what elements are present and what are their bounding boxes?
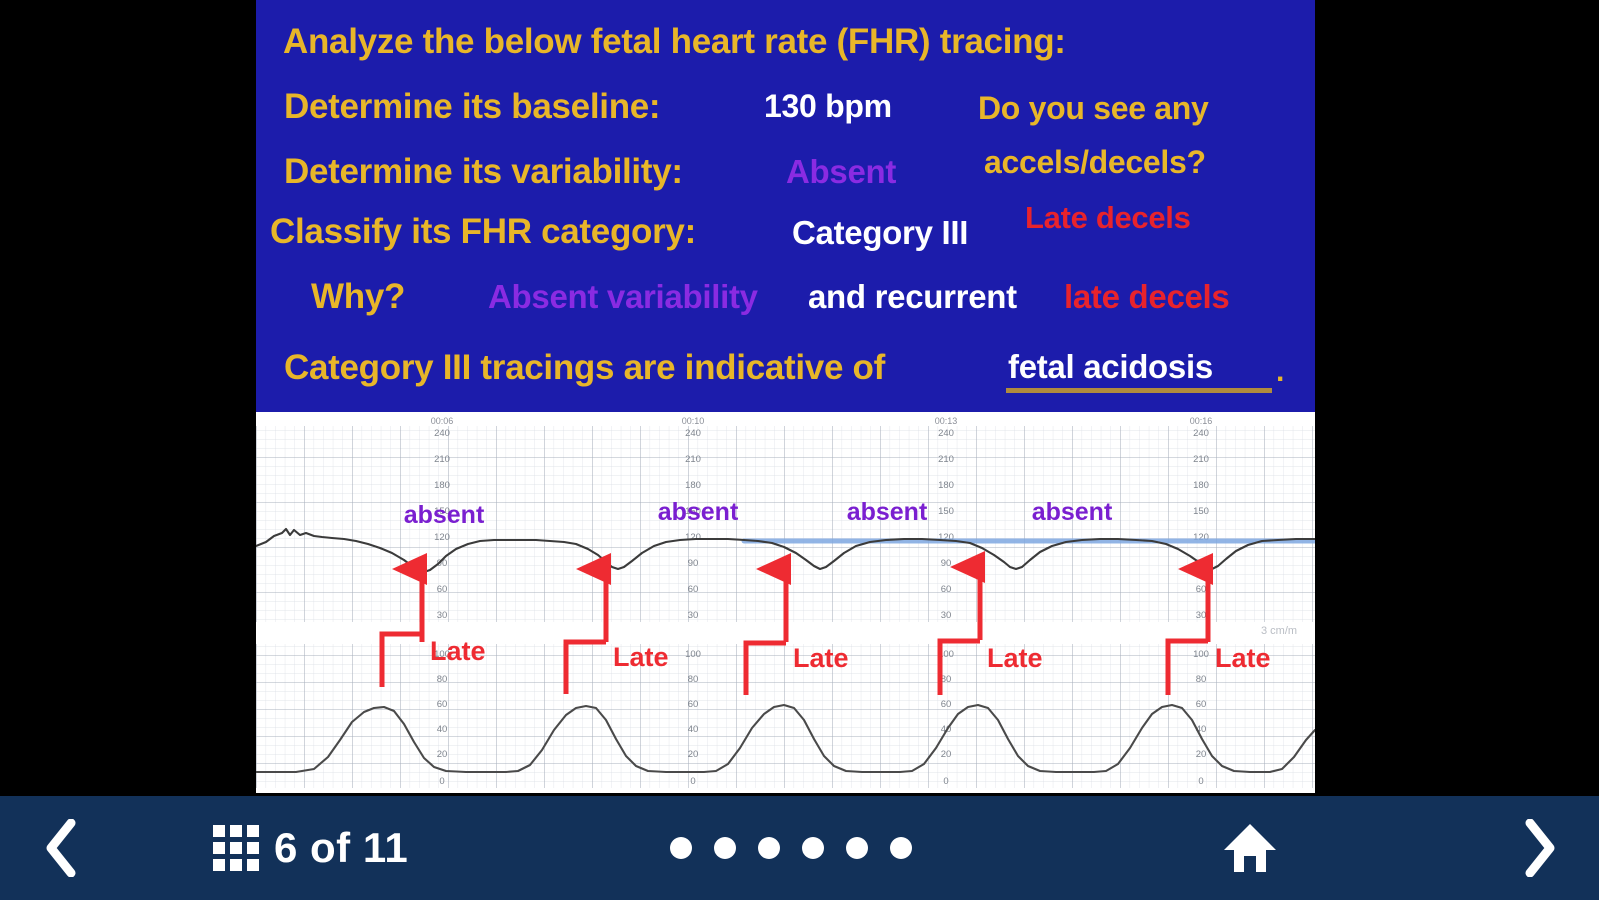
grid-cell <box>230 842 242 854</box>
svg-text:20: 20 <box>1196 749 1207 760</box>
tracing-svg: 00:06 00:10 00:13 00:16 240 210 180 150 … <box>256 412 1315 793</box>
slide-grid-button[interactable] <box>213 825 259 871</box>
svg-text:30: 30 <box>437 610 448 621</box>
toco-grid <box>256 644 1315 788</box>
page-indicator: 6 of 11 <box>274 824 408 872</box>
svg-text:60: 60 <box>688 584 699 595</box>
svg-text:80: 80 <box>688 674 699 685</box>
svg-text:180: 180 <box>1193 480 1209 491</box>
slide-viewer-app: Analyze the below fetal heart rate (FHR)… <box>0 0 1599 900</box>
svg-text:0: 0 <box>439 776 444 787</box>
slide-dots[interactable] <box>670 837 912 859</box>
slide-dot[interactable] <box>802 837 824 859</box>
indicative-blank-answer: fetal acidosis <box>1008 348 1213 386</box>
svg-text:60: 60 <box>941 584 952 595</box>
svg-text:60: 60 <box>1196 584 1207 595</box>
svg-text:60: 60 <box>688 699 699 710</box>
svg-text:150: 150 <box>938 506 954 517</box>
category-label: Classify its FHR category: <box>270 212 696 252</box>
time-label: 00:10 <box>682 416 705 426</box>
svg-text:30: 30 <box>941 610 952 621</box>
svg-text:90: 90 <box>941 558 952 569</box>
svg-text:30: 30 <box>1196 610 1207 621</box>
svg-text:100: 100 <box>685 649 701 660</box>
svg-text:0: 0 <box>690 776 695 787</box>
grid-cell <box>247 842 259 854</box>
variability-value: Absent <box>786 153 896 191</box>
grid-cell <box>230 859 242 871</box>
grid-cell <box>247 825 259 837</box>
svg-text:240: 240 <box>685 428 701 439</box>
home-icon <box>1222 822 1278 874</box>
next-slide-button[interactable] <box>1511 818 1571 878</box>
grid-cell <box>247 859 259 871</box>
late-label: Late <box>613 642 669 672</box>
svg-text:80: 80 <box>1196 674 1207 685</box>
svg-text:40: 40 <box>437 724 448 735</box>
blank-underline <box>1006 388 1272 393</box>
time-label: 00:06 <box>431 416 454 426</box>
slide-dot[interactable] <box>758 837 780 859</box>
home-button[interactable] <box>1222 822 1278 874</box>
slide-content: Analyze the below fetal heart rate (FHR)… <box>256 0 1315 793</box>
slide-dot[interactable] <box>890 837 912 859</box>
chevron-left-icon <box>43 819 77 877</box>
slide-dot[interactable] <box>846 837 868 859</box>
question-panel: Analyze the below fetal heart rate (FHR)… <box>256 0 1315 412</box>
svg-text:80: 80 <box>437 674 448 685</box>
accels-question-line1: Do you see any <box>978 90 1209 127</box>
late-label: Late <box>430 636 486 666</box>
why-absent-variability: Absent variability <box>488 278 758 316</box>
svg-text:60: 60 <box>437 584 448 595</box>
absent-label: absent <box>658 498 739 526</box>
svg-text:180: 180 <box>685 480 701 491</box>
grid-cell <box>213 859 225 871</box>
grid-cell <box>230 825 242 837</box>
why-late-decels: late decels <box>1064 278 1229 316</box>
svg-text:210: 210 <box>434 454 450 465</box>
grid-cell <box>213 842 225 854</box>
svg-text:210: 210 <box>938 454 954 465</box>
chevron-right-icon <box>1524 819 1558 877</box>
indicative-period: . <box>1276 355 1284 389</box>
accels-question-line2: accels/decels? <box>984 144 1206 181</box>
absent-label: absent <box>404 501 485 529</box>
svg-text:180: 180 <box>938 480 954 491</box>
grid-cell <box>213 825 225 837</box>
late-label: Late <box>793 643 849 673</box>
svg-text:60: 60 <box>941 699 952 710</box>
svg-text:150: 150 <box>1193 506 1209 517</box>
svg-text:20: 20 <box>688 749 699 760</box>
svg-text:0: 0 <box>943 776 948 787</box>
baseline-value: 130 bpm <box>764 88 892 125</box>
svg-text:40: 40 <box>688 724 699 735</box>
svg-text:120: 120 <box>685 532 701 543</box>
svg-text:210: 210 <box>1193 454 1209 465</box>
paper-speed-label: 3 cm/m <box>1261 625 1297 637</box>
why-label: Why? <box>311 277 405 317</box>
svg-text:240: 240 <box>434 428 450 439</box>
late-label: Late <box>987 643 1043 673</box>
svg-text:240: 240 <box>1193 428 1209 439</box>
slide-dot[interactable] <box>670 837 692 859</box>
svg-text:120: 120 <box>434 532 450 543</box>
svg-text:60: 60 <box>437 699 448 710</box>
svg-text:0: 0 <box>1198 776 1203 787</box>
svg-text:20: 20 <box>941 749 952 760</box>
svg-text:30: 30 <box>688 610 699 621</box>
time-label: 00:13 <box>935 416 958 426</box>
previous-slide-button[interactable] <box>30 818 90 878</box>
absent-label: absent <box>847 498 928 526</box>
navigation-toolbar: 6 of 11 <box>0 796 1599 900</box>
svg-text:240: 240 <box>938 428 954 439</box>
time-label: 00:16 <box>1190 416 1213 426</box>
decels-answer: Late decels <box>1025 200 1191 236</box>
prompt-text: Analyze the below fetal heart rate (FHR)… <box>283 22 1066 62</box>
why-and-recurrent: and recurrent <box>808 278 1017 316</box>
fhr-tracing-chart: 00:06 00:10 00:13 00:16 240 210 180 150 … <box>256 412 1315 793</box>
svg-text:60: 60 <box>1196 699 1207 710</box>
category-value: Category III <box>792 214 968 252</box>
slide-dot[interactable] <box>714 837 736 859</box>
svg-text:100: 100 <box>1193 649 1209 660</box>
indicative-label: Category III tracings are indicative of <box>284 348 885 388</box>
svg-text:90: 90 <box>688 558 699 569</box>
late-label: Late <box>1215 643 1271 673</box>
svg-text:180: 180 <box>434 480 450 491</box>
svg-text:210: 210 <box>685 454 701 465</box>
variability-label: Determine its variability: <box>284 152 683 192</box>
baseline-label: Determine its baseline: <box>284 87 660 127</box>
absent-label: absent <box>1032 498 1113 526</box>
svg-text:20: 20 <box>437 749 448 760</box>
